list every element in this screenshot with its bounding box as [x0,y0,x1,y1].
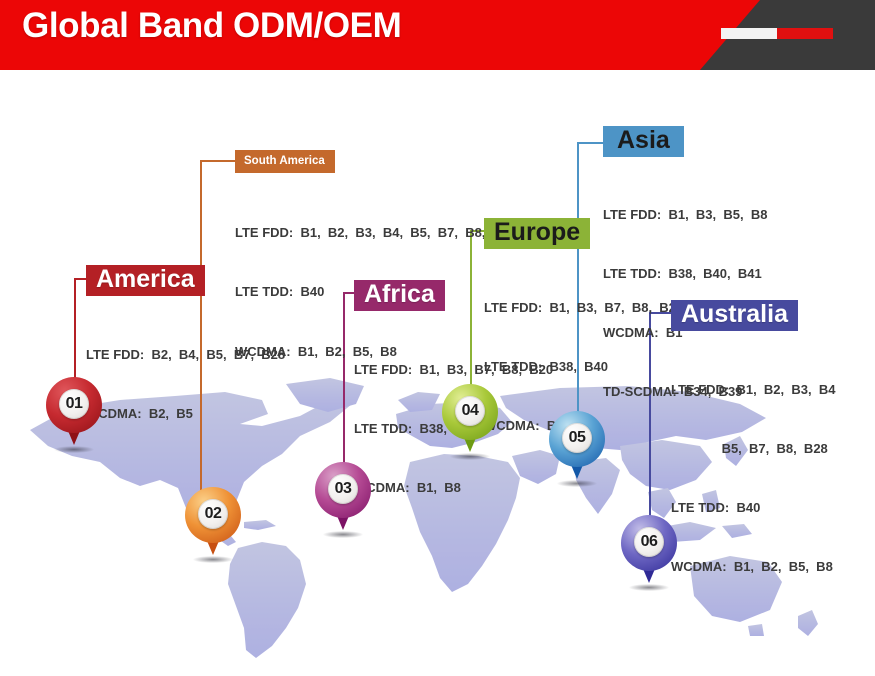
pin-number-06: 06 [634,527,664,557]
pin-shadow [557,480,597,487]
connector-america-vertical [74,278,76,388]
map-pin-03[interactable]: 03 [315,462,371,534]
pin-shadow [54,446,94,453]
pin-number-01: 01 [59,389,89,419]
pin-shadow [629,584,669,591]
pin-shadow [323,531,363,538]
band-row: WCDMA: B2, B5 [86,404,285,424]
pin-number-05: 05 [562,423,592,453]
region-label-south-america: South America [235,150,335,173]
accent-bar-red-segment [777,28,833,39]
pin-shadow [193,556,233,563]
connector-south-america-horizontal [200,160,238,162]
header-accent-bar [721,28,833,39]
accent-bar-white-segment [721,28,777,39]
map-layer: America LTE FDD: B2, B4, B5, B7, B28 WCD… [0,70,875,676]
band-row: LTE TDD: B40 [671,498,835,518]
band-row: LTE FDD: B1, B2, B3, B4 [671,380,835,400]
map-pin-06[interactable]: 06 [621,515,677,587]
region-label-asia: Asia [603,126,684,157]
map-pin-01[interactable]: 01 [46,377,102,449]
pin-number-03: 03 [328,474,358,504]
region-label-australia: Australia [671,300,798,331]
band-row: WCDMA: B1, B2, B5, B8 [671,557,835,577]
band-row: LTE TDD: B38, B40, B41 [603,264,767,284]
region-label-africa: Africa [354,280,445,311]
pin-shadow [450,453,490,460]
band-row: LTE FDD: B1, B2, B3, B4, B5, B7, B8, B28 [235,223,517,243]
region-label-america: America [86,265,205,296]
bands-australia: LTE FDD: B1, B2, B3, B4 B5, B7, B8, B28 … [671,340,835,617]
info-block-australia[interactable]: Australia LTE FDD: B1, B2, B3, B4 B5, B7… [671,300,835,617]
pin-number-04: 04 [455,396,485,426]
band-row: B5, B7, B8, B28 [671,439,835,459]
region-label-europe: Europe [484,218,590,249]
page-title: Global Band ODM/OEM [22,6,401,46]
connector-asia-horizontal [577,142,603,144]
band-row: WCDMA: B1, B8 [354,478,553,498]
header-banner: Global Band ODM/OEM [0,0,875,70]
slide-root: Global Band ODM/OEM [0,0,875,676]
map-pin-04[interactable]: 04 [442,384,498,456]
map-pin-02[interactable]: 02 [185,487,241,559]
band-row: LTE FDD: B1, B3, B5, B8 [603,205,767,225]
map-pin-05[interactable]: 05 [549,411,605,483]
pin-number-02: 02 [198,499,228,529]
